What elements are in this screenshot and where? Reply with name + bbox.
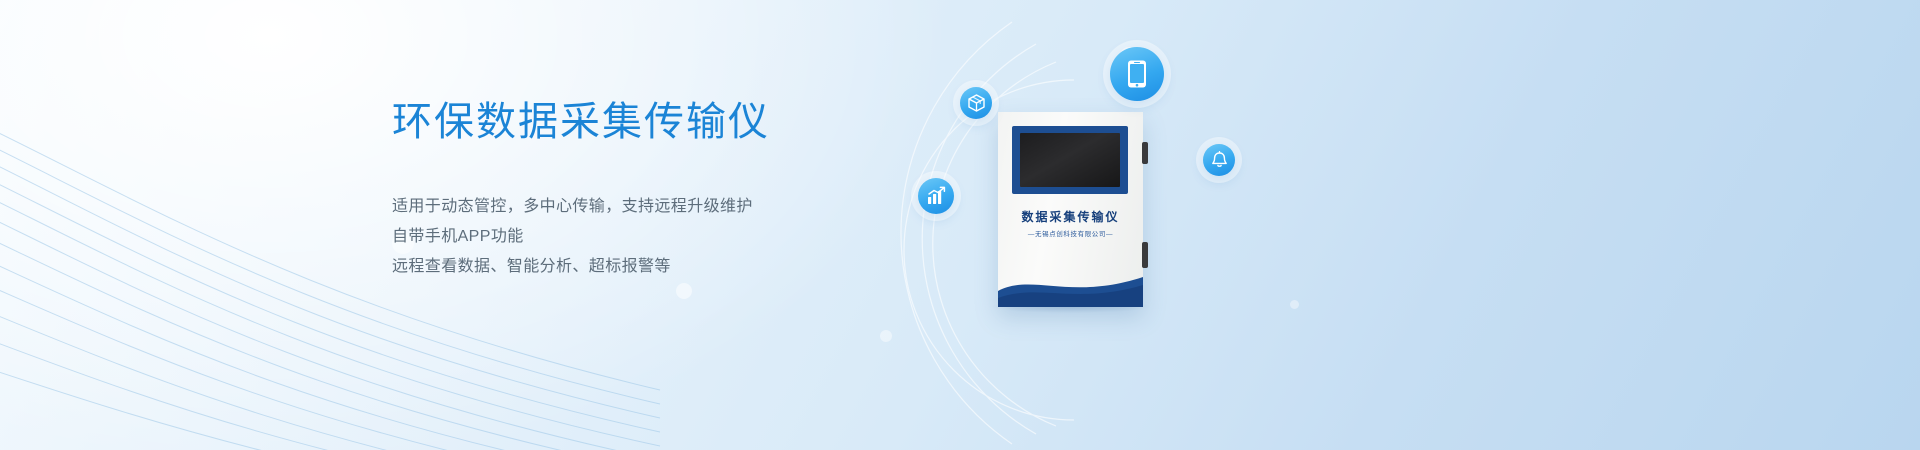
feature-list: 适用于动态管控，多中心传输，支持远程升级维护 自带手机APP功能 远程查看数据、… — [392, 192, 912, 282]
device-hinge — [1142, 242, 1148, 268]
device-screen — [1020, 133, 1120, 187]
device-screen-bezel — [1012, 126, 1128, 194]
data-acquisition-device: 数据采集传输仪 —无锡点创科技有限公司— — [998, 112, 1143, 307]
feature-line: 远程查看数据、智能分析、超标报警等 — [392, 252, 912, 282]
decorative-bubble — [676, 283, 692, 299]
device-panel-title: 数据采集传输仪 — [998, 208, 1143, 225]
device-hinge — [1142, 142, 1148, 164]
bar-chart-icon[interactable] — [918, 178, 954, 214]
phone-icon[interactable] — [1110, 47, 1164, 101]
feature-line: 自带手机APP功能 — [392, 222, 912, 252]
banner-copy: 环保数据采集传输仪 适用于动态管控，多中心传输，支持远程升级维护 自带手机APP… — [392, 96, 912, 282]
alarm-icon[interactable] — [1203, 144, 1235, 176]
product-hero-banner: 环保数据采集传输仪 适用于动态管控，多中心传输，支持远程升级维护 自带手机APP… — [0, 0, 1920, 450]
page-title: 环保数据采集传输仪 — [392, 96, 912, 148]
product-visual: 数据采集传输仪 —无锡点创科技有限公司— — [860, 0, 1420, 450]
cube-icon[interactable] — [960, 87, 992, 119]
device-panel-subtitle: —无锡点创科技有限公司— — [998, 228, 1143, 238]
device-wave-band — [998, 271, 1143, 307]
feature-line: 适用于动态管控，多中心传输，支持远程升级维护 — [392, 192, 912, 222]
